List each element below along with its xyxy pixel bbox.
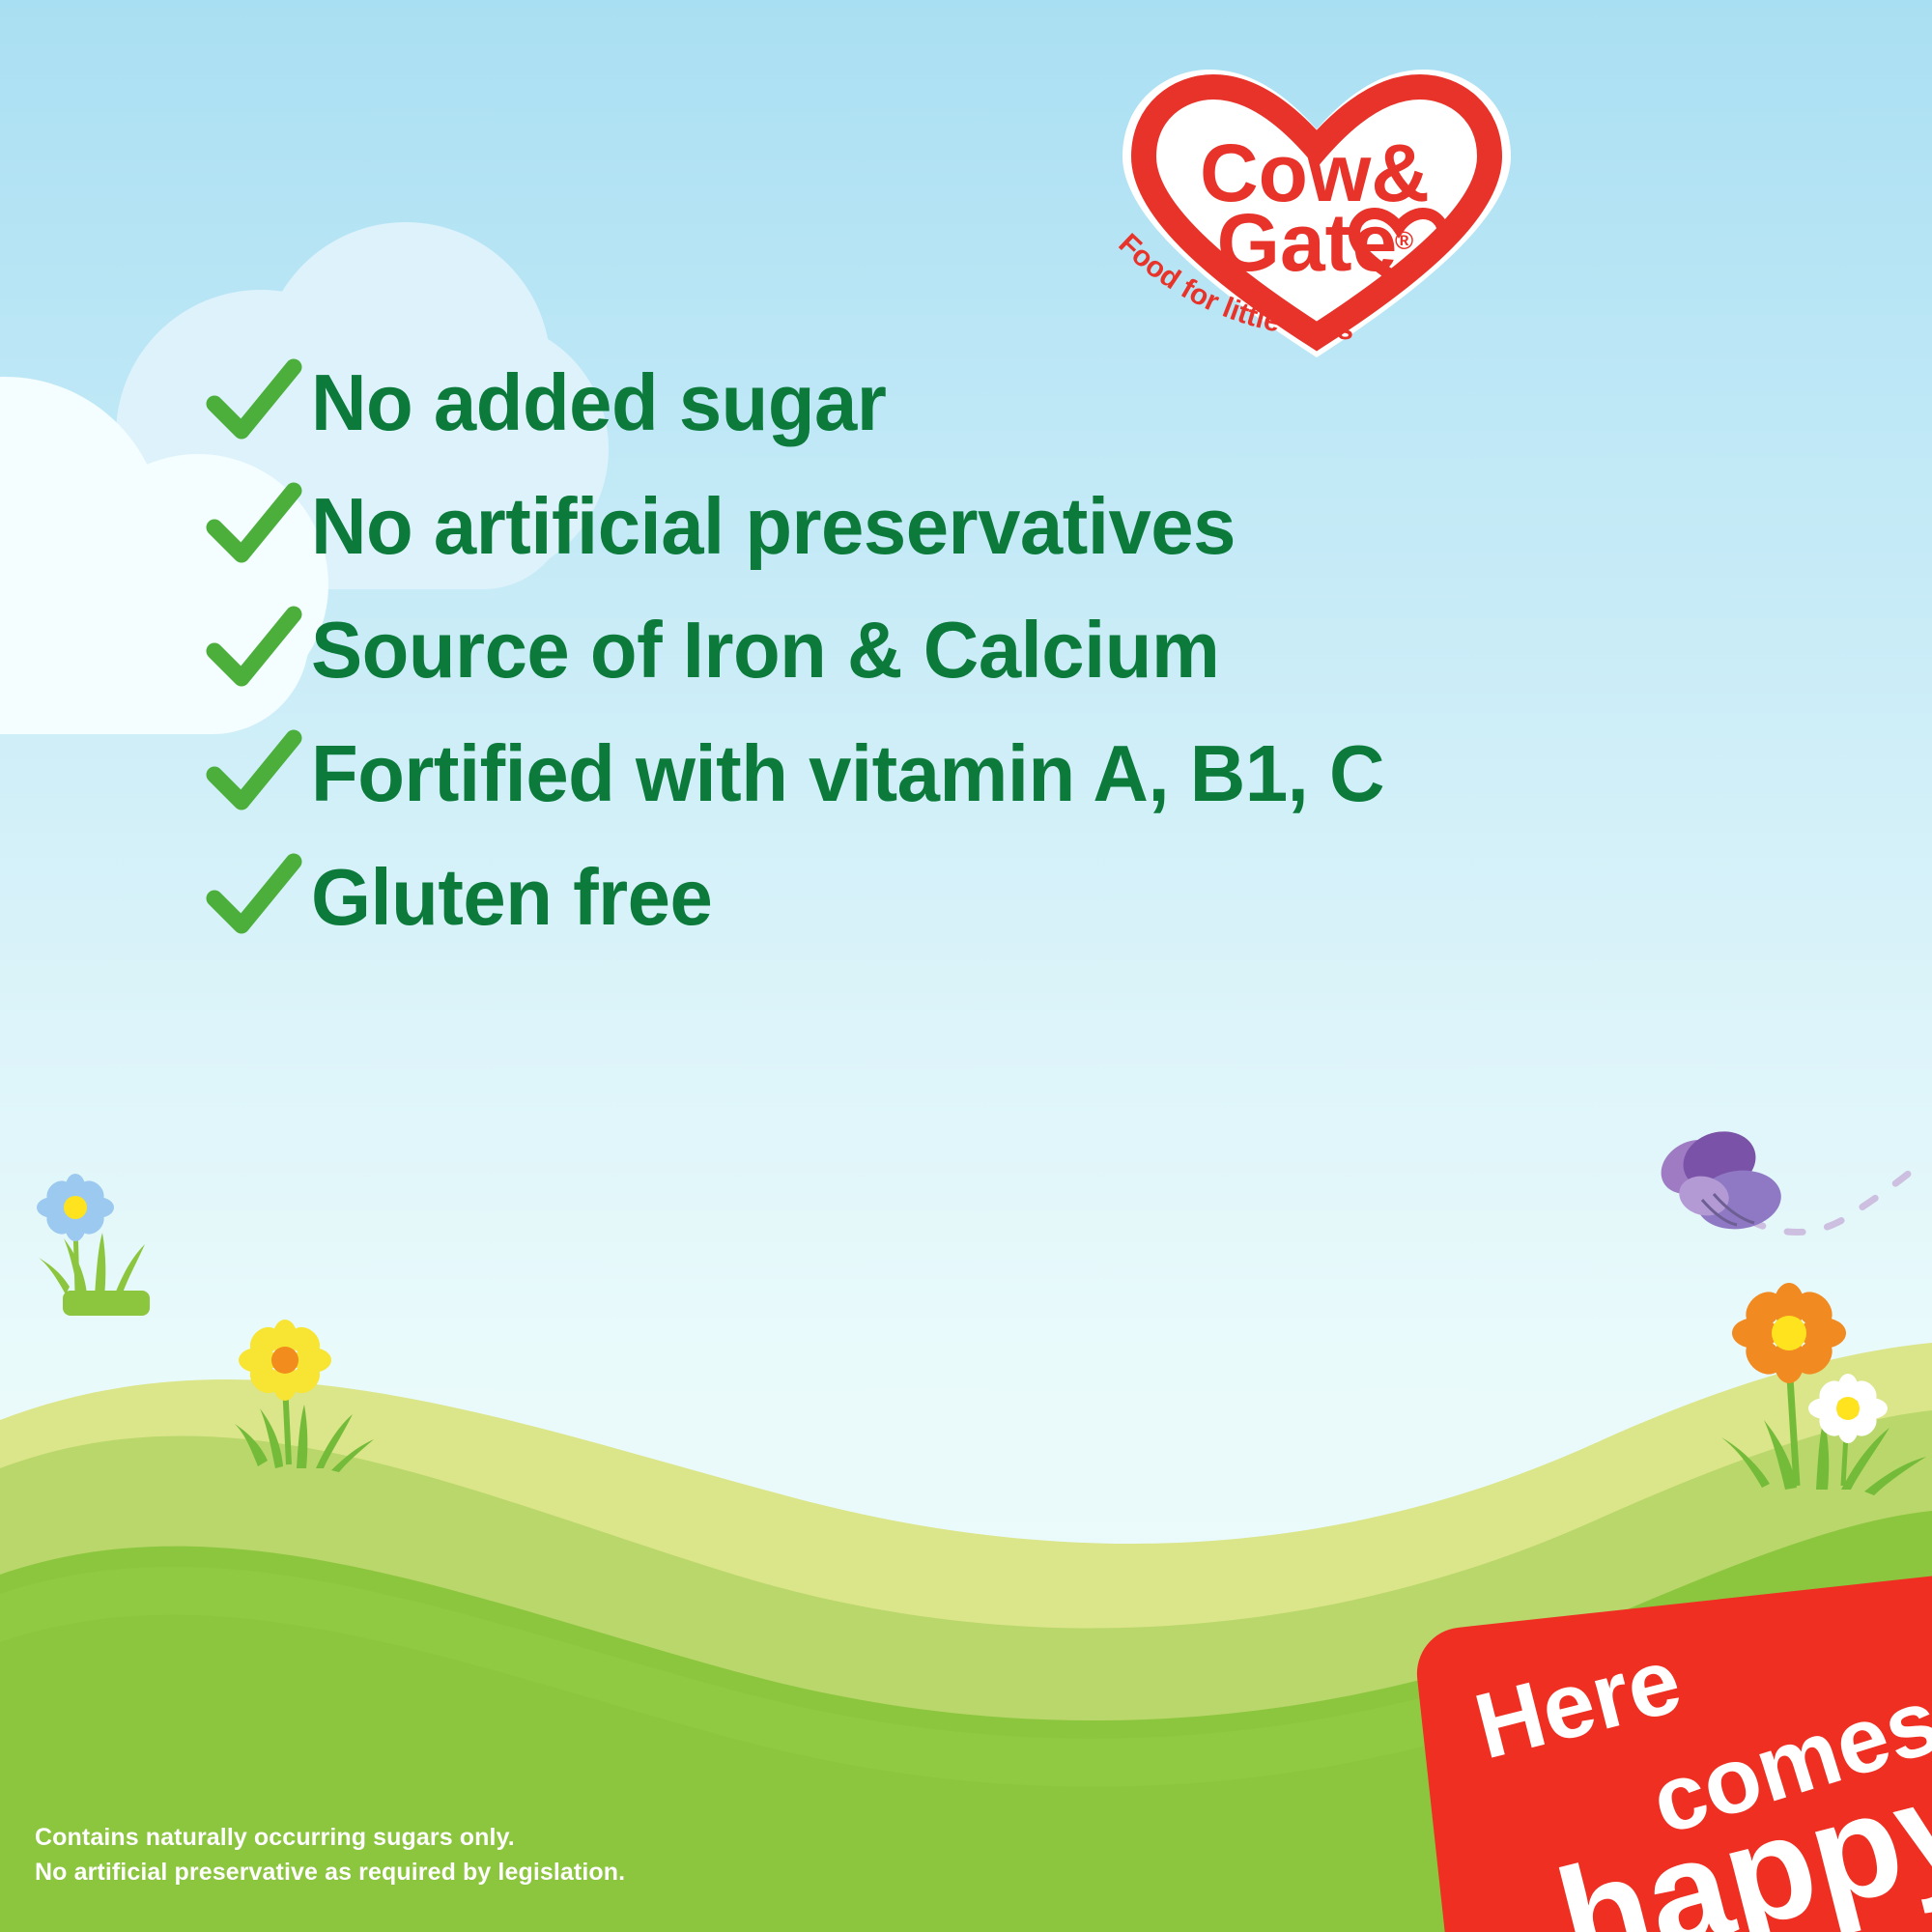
benefits-list: No added sugar No artificial preservativ… [205,340,1847,958]
check-icon [205,596,311,702]
flower-center [64,1196,87,1219]
butterfly-icon [1634,1128,1924,1302]
benefit-label: No artificial preservatives [311,486,1236,566]
logo-tagline-text: Food for little ones [1113,228,1354,346]
benefit-label: No added sugar [311,362,886,442]
flower-blue [37,1174,114,1241]
check-icon [205,349,311,455]
footnote: Contains naturally occurring sugars only… [35,1821,625,1889]
grass-tuft [39,1233,150,1316]
flower-group-blue [10,1150,203,1343]
flower-center [1772,1316,1806,1350]
benefit-label: Fortified with vitamin A, B1, C [311,733,1384,813]
flower-center [271,1347,298,1374]
check-icon [205,720,311,826]
logo-tagline: Food for little ones [1101,222,1391,348]
footnote-line-2: No artificial preservative as required b… [35,1856,625,1890]
registered-mark-icon: ® [1395,226,1413,255]
footnote-line-1: Contains naturally occurring sugars only… [35,1821,625,1856]
benefit-item: Fortified with vitamin A, B1, C [205,711,1847,835]
flower-yellow [239,1320,331,1401]
benefit-label: Gluten free [311,857,712,937]
benefit-item: No added sugar [205,340,1847,464]
poster-canvas: Cow& Gate ® Food for little ones [0,0,1932,1932]
check-icon [205,843,311,950]
benefit-item: No artificial preservatives [205,464,1847,587]
benefit-label: Source of Iron & Calcium [311,610,1219,690]
svg-text:Food for little ones: Food for little ones [1113,228,1354,346]
grass-tuft [235,1405,374,1472]
check-icon [205,472,311,579]
benefit-item: Gluten free [205,835,1847,958]
butterfly-body [1652,1128,1785,1235]
flower-group-yellow [208,1285,401,1497]
flower-white [1808,1374,1888,1443]
flower-center [1836,1397,1860,1420]
benefit-item: Source of Iron & Calcium [205,587,1847,711]
